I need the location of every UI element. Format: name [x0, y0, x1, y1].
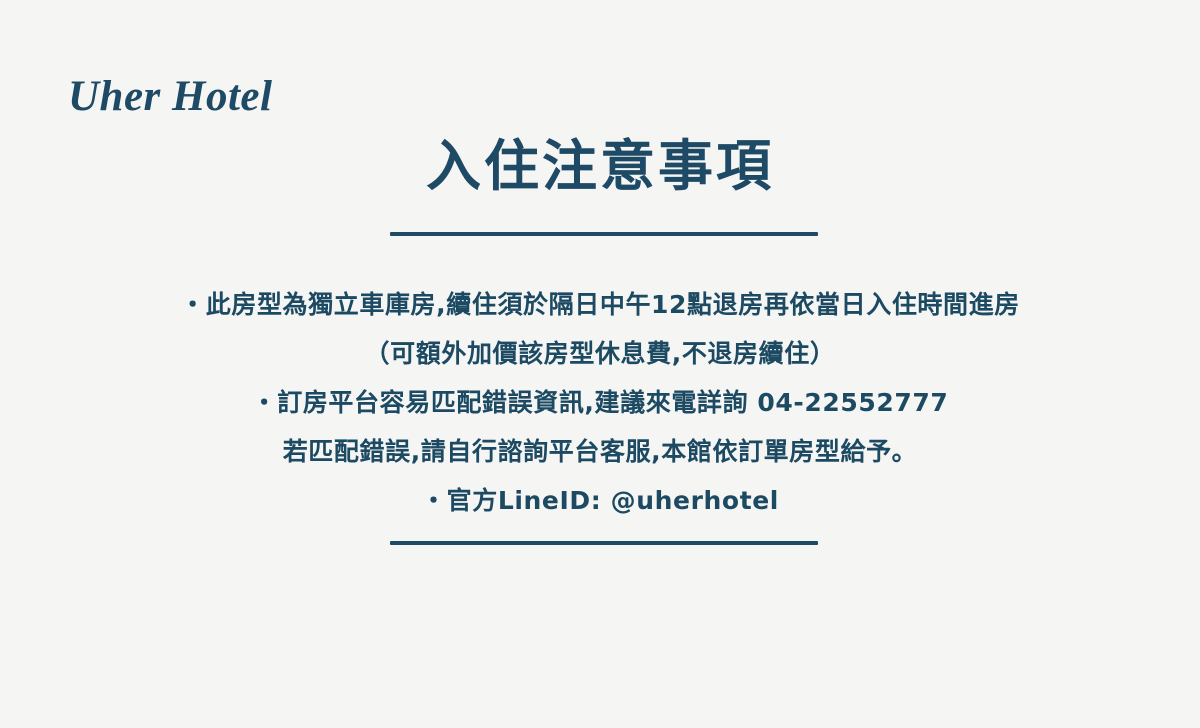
notice-line: ・此房型為獨立車庫房,續住須於隔日中午12點退房再依當日入住時間進房 [0, 280, 1200, 329]
notice-list: ・此房型為獨立車庫房,續住須於隔日中午12點退房再依當日入住時間進房 （可額外加… [0, 280, 1200, 525]
notice-line: ・訂房平台容易匹配錯誤資訊,建議來電詳詢 04-22552777 [0, 378, 1200, 427]
notice-line: （可額外加價該房型休息費,不退房續住） [0, 329, 1200, 378]
brand-logo: Uher Hotel [68, 74, 272, 119]
divider-top [390, 232, 818, 236]
checkin-notice-poster: Uher Hotel 入住注意事項 ・此房型為獨立車庫房,續住須於隔日中午12點… [0, 0, 1200, 728]
page-title: 入住注意事項 [0, 136, 1200, 198]
notice-line: ・官方LineID: @uherhotel [0, 476, 1200, 525]
notice-line: 若匹配錯誤,請自行諮詢平台客服,本館依訂單房型給予。 [0, 427, 1200, 476]
divider-bottom [390, 541, 818, 545]
